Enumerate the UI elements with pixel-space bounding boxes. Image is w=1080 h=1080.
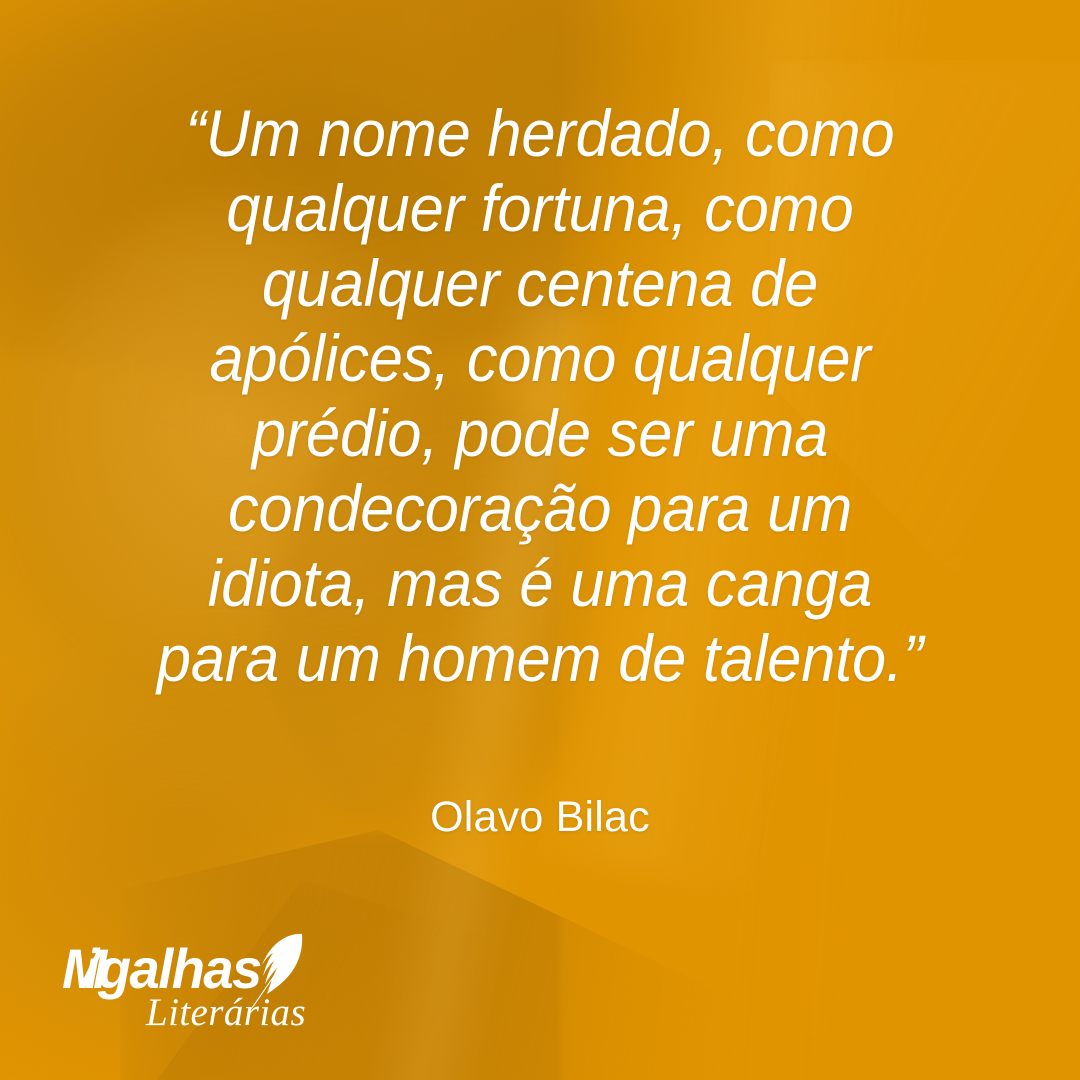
quote-line: idiota, mas é uma canga (123, 546, 956, 621)
quote-line: condecoração para um (123, 471, 956, 546)
quote-line: para um homem de talento.” (123, 621, 956, 696)
quote-line: prédio, pode ser uma (123, 396, 956, 471)
card-content: “Um nome herdado, como qualquer fortuna,… (0, 0, 1080, 1080)
brand-wordmark-i: i (84, 937, 98, 1000)
quote-line: qualquer fortuna, como (123, 171, 956, 246)
quote-card: “Um nome herdado, como qualquer fortuna,… (0, 0, 1080, 1080)
quote-line: qualquer centena de (123, 246, 956, 321)
quote-line: “Um nome herdado, como (123, 96, 956, 171)
quote-text: “Um nome herdado, como qualquer fortuna,… (123, 96, 956, 696)
brand-logo[interactable]: Migalhas Literárias (62, 933, 322, 1025)
quote-line: apólices, como qualquer (123, 321, 956, 396)
quote-author: Olavo Bilac (0, 793, 1080, 841)
brand-subtitle: Literárias (146, 993, 306, 1033)
brand-wordmark: Migalhas (62, 941, 261, 997)
